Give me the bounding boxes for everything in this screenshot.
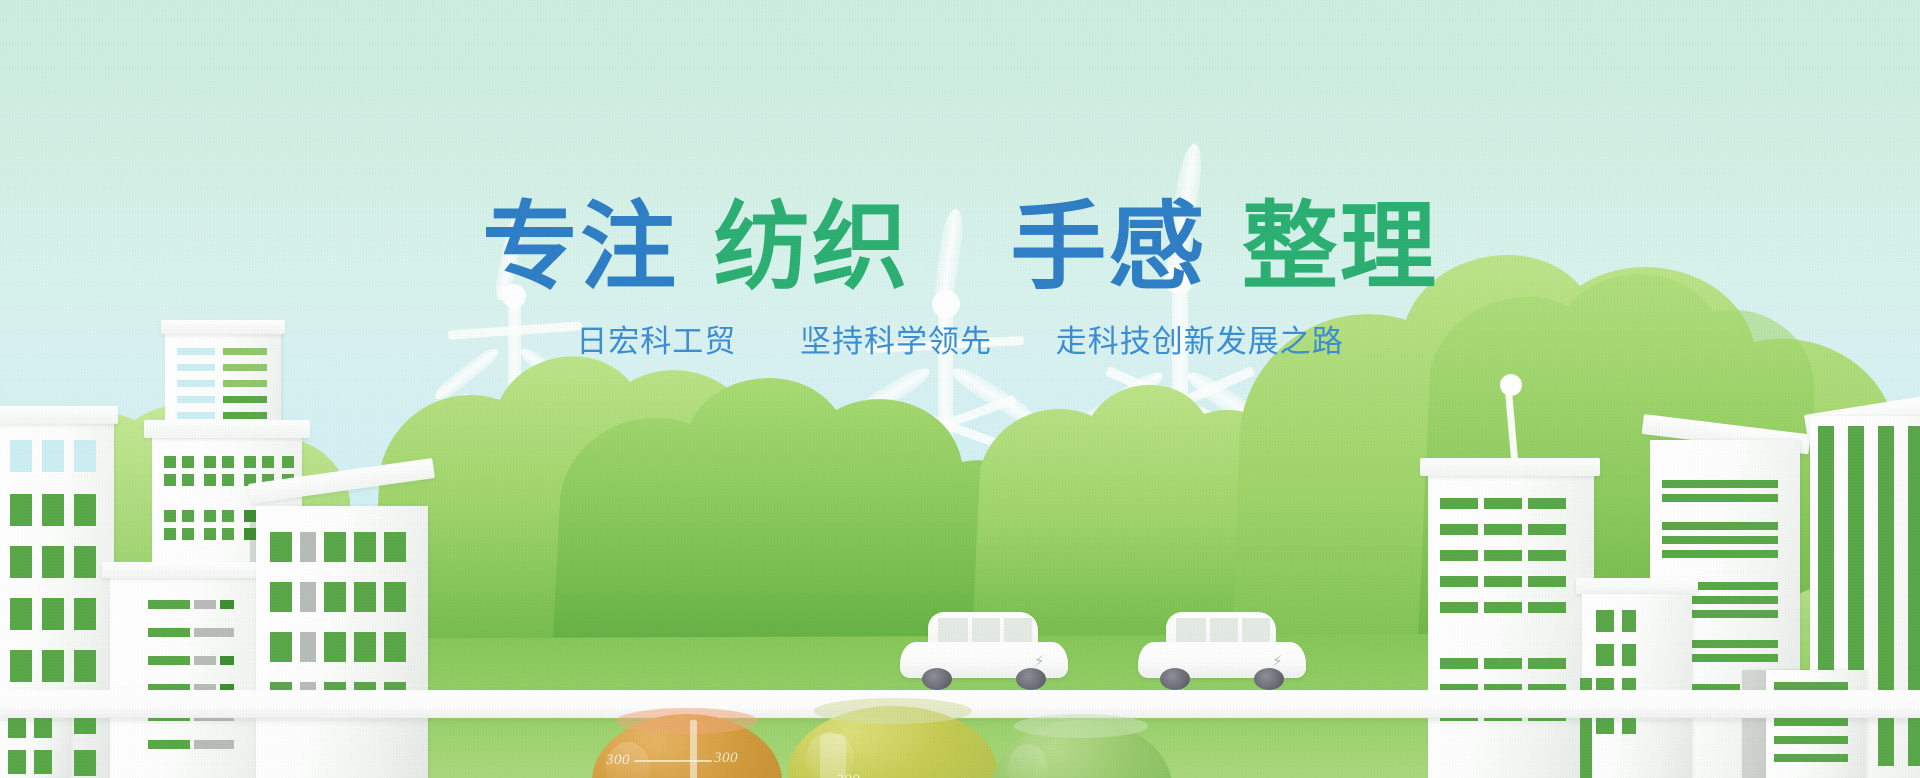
beaker-icon <box>992 720 1172 778</box>
beaker-scale-label: 300 <box>606 752 630 769</box>
hero-text-block: 专注 纺织 手感 整理 日宏科工贸 坚持科学领先 走科技创新发展之路 <box>0 0 1920 362</box>
building-icon <box>1766 670 1866 778</box>
electric-car-icon: ⚡ <box>1138 612 1306 690</box>
page-subtitle: 日宏科工贸 坚持科学领先 走科技创新发展之路 <box>0 300 1920 362</box>
building-icon <box>1582 578 1692 778</box>
headline-segment-1: 专注 <box>482 191 678 303</box>
building-icon <box>1424 448 1596 778</box>
subtitle-part-1: 日宏科工贸 <box>576 324 736 360</box>
building-icon <box>248 484 428 778</box>
beaker-icon: 300 <box>788 706 998 778</box>
lightning-bolt-icon: ⚡ <box>1272 654 1283 669</box>
antenna-ball-icon <box>1500 374 1522 396</box>
beaker-scale-label: 300 <box>714 750 738 767</box>
subtitle-part-2: 坚持科学领先 <box>800 324 992 360</box>
page-title: 专注 纺织 手感 整理 <box>0 0 1920 300</box>
electric-car-icon: ⚡ <box>900 612 1068 690</box>
subtitle-part-3: 走科技创新发展之路 <box>1056 324 1344 360</box>
beaker-icon: 300 300 300 300 <box>592 714 782 778</box>
headline-segment-3: 手感 <box>1010 191 1206 303</box>
eco-city-hero-banner: ⚡ ⚡ 300 300 300 300 300 <box>0 0 1920 778</box>
lightning-bolt-icon: ⚡ <box>1034 654 1045 669</box>
headline-segment-2: 纺织 <box>714 191 910 303</box>
beaker-scale-label: 300 <box>836 772 860 778</box>
headline-segment-4: 整理 <box>1242 191 1438 303</box>
